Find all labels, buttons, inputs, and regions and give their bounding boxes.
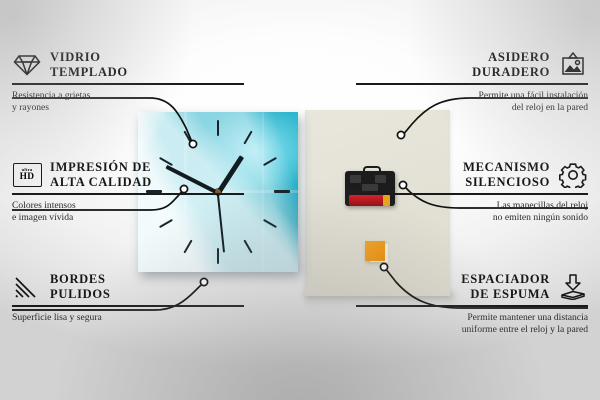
picture-frame-hook-icon bbox=[558, 52, 588, 78]
ultra-hd-icon: ultra HD bbox=[12, 162, 42, 188]
feature-header: ASIDERO DURADERO bbox=[356, 50, 588, 80]
feature-impresion-alta-calidad: ultra HD IMPRESIÓN DE ALTA CALIDAD Color… bbox=[12, 160, 244, 224]
feature-title: IMPRESIÓN DE ALTA CALIDAD bbox=[50, 160, 152, 190]
feature-header: ESPACIADOR DE ESPUMA bbox=[356, 272, 588, 302]
feature-title: VIDRIO TEMPLADO bbox=[50, 50, 128, 80]
feature-header: VIDRIO TEMPLADO bbox=[12, 50, 244, 80]
divider bbox=[356, 193, 588, 195]
feature-header: MECANISMO SILENCIOSO bbox=[356, 160, 588, 190]
foam-spacer-arrow-icon bbox=[558, 274, 588, 300]
feature-header: BORDES PULIDOS bbox=[12, 272, 244, 302]
feature-title: MECANISMO SILENCIOSO bbox=[463, 160, 550, 190]
divider bbox=[356, 83, 588, 85]
feature-bordes-pulidos: BORDES PULIDOS Superficie lisa y segura bbox=[12, 272, 244, 324]
feature-title: BORDES PULIDOS bbox=[50, 272, 110, 302]
gear-icon bbox=[558, 162, 588, 188]
connector-dot-asidero bbox=[397, 131, 404, 138]
feature-subtitle: Permite una fácil instalación del reloj … bbox=[356, 90, 588, 114]
hd-label: HD bbox=[20, 173, 35, 182]
divider bbox=[12, 83, 244, 85]
feature-subtitle: Las manecillas del reloj no emiten ningú… bbox=[356, 200, 588, 224]
feature-asidero-duradero: ASIDERO DURADERO Permite una fácil insta… bbox=[356, 50, 588, 114]
diamond-icon bbox=[12, 52, 42, 78]
feature-title: ASIDERO DURADERO bbox=[472, 50, 550, 80]
feature-subtitle: Resistencia a grietas y rayones bbox=[12, 90, 244, 114]
feature-subtitle: Colores intensos e imagen vívida bbox=[12, 200, 244, 224]
feature-subtitle: Permite mantener una distancia uniforme … bbox=[356, 312, 588, 336]
feature-vidrio-templado: VIDRIO TEMPLADO Resistencia a grietas y … bbox=[12, 50, 244, 114]
divider bbox=[356, 305, 588, 307]
infographic-canvas: VIDRIO TEMPLADO Resistencia a grietas y … bbox=[0, 0, 600, 400]
polished-edges-icon bbox=[12, 274, 42, 300]
feature-subtitle: Superficie lisa y segura bbox=[12, 312, 244, 324]
connector-dot-espaciador bbox=[380, 263, 387, 270]
connector-dot-vidrio bbox=[189, 140, 196, 147]
divider bbox=[12, 193, 244, 195]
feature-header: ultra HD IMPRESIÓN DE ALTA CALIDAD bbox=[12, 160, 244, 190]
feature-espaciador-de-espuma: ESPACIADOR DE ESPUMA Permite mantener un… bbox=[356, 272, 588, 336]
divider bbox=[12, 305, 244, 307]
feature-mecanismo-silencioso: MECANISMO SILENCIOSO Las manecillas del … bbox=[356, 160, 588, 224]
feature-title: ESPACIADOR DE ESPUMA bbox=[461, 272, 550, 302]
